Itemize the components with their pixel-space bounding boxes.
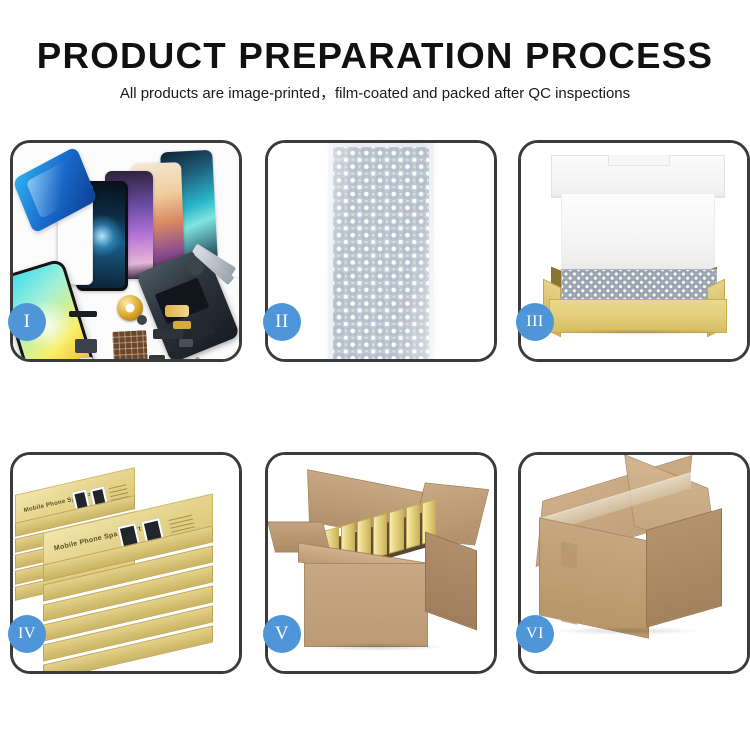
step-2-image bbox=[268, 143, 494, 359]
step-badge-6: VI bbox=[516, 615, 554, 653]
drop-shadow bbox=[551, 627, 701, 635]
carton-front-panel bbox=[304, 563, 428, 647]
carton-side-panel bbox=[425, 532, 477, 631]
foam-insert bbox=[561, 193, 715, 273]
process-step-grid: I II bbox=[0, 0, 750, 750]
screw-icon-1 bbox=[195, 357, 200, 359]
retail-box-stack-scene: Mobile Phone Spare Parts Mobile Phone Sp… bbox=[13, 455, 239, 671]
drop-shadow bbox=[308, 643, 448, 651]
packed-box bbox=[373, 513, 387, 559]
phone-parts-scene bbox=[13, 143, 239, 359]
step-4-image: Mobile Phone Spare Parts Mobile Phone Sp… bbox=[13, 455, 239, 671]
step-6-image bbox=[521, 455, 747, 671]
step-badge-4: IV bbox=[8, 615, 46, 653]
bubble-wrapped-contents bbox=[561, 269, 717, 303]
ribbon-cable bbox=[153, 329, 183, 339]
flex-connector bbox=[69, 311, 97, 317]
bubble-wrap-scene bbox=[268, 143, 494, 359]
chip-array bbox=[112, 330, 148, 359]
camera-module bbox=[75, 339, 97, 353]
sim-tray bbox=[149, 355, 165, 359]
small-connector bbox=[179, 339, 193, 347]
step-badge-5: V bbox=[263, 615, 301, 653]
step-badge-3: III bbox=[516, 303, 554, 341]
step-badge-2: II bbox=[263, 303, 301, 341]
carton-side-panel bbox=[646, 508, 722, 628]
packed-box bbox=[406, 503, 420, 549]
open-carton-scene bbox=[268, 455, 494, 671]
battery-cell bbox=[79, 357, 93, 359]
tape-tab-upper bbox=[561, 541, 577, 568]
drop-shadow bbox=[551, 329, 723, 335]
process-step-card-5[interactable]: V bbox=[265, 452, 497, 674]
sealed-carton-scene bbox=[521, 455, 747, 671]
process-step-card-4[interactable]: Mobile Phone Spare Parts Mobile Phone Sp… bbox=[10, 452, 242, 674]
button-cap bbox=[137, 315, 147, 325]
step-badge-1: I bbox=[8, 303, 46, 341]
process-step-card-2[interactable]: II bbox=[265, 140, 497, 362]
plastic-sheen bbox=[325, 143, 437, 359]
mailer-box-scene bbox=[521, 143, 747, 359]
step-3-image bbox=[521, 143, 747, 359]
step-1-image bbox=[13, 143, 239, 359]
gold-flex-cable bbox=[165, 305, 189, 317]
mailer-lid bbox=[551, 155, 725, 198]
process-step-card-6[interactable]: VI bbox=[518, 452, 750, 674]
gold-contact bbox=[173, 321, 191, 329]
tape-tab-lower bbox=[561, 603, 577, 624]
process-step-card-1[interactable]: I bbox=[10, 140, 242, 362]
packed-box bbox=[389, 508, 403, 554]
process-step-card-3[interactable]: III bbox=[518, 140, 750, 362]
mailer-front-panel bbox=[549, 299, 727, 333]
bubble-wrap-pouch bbox=[325, 143, 437, 359]
step-5-image bbox=[268, 455, 494, 671]
